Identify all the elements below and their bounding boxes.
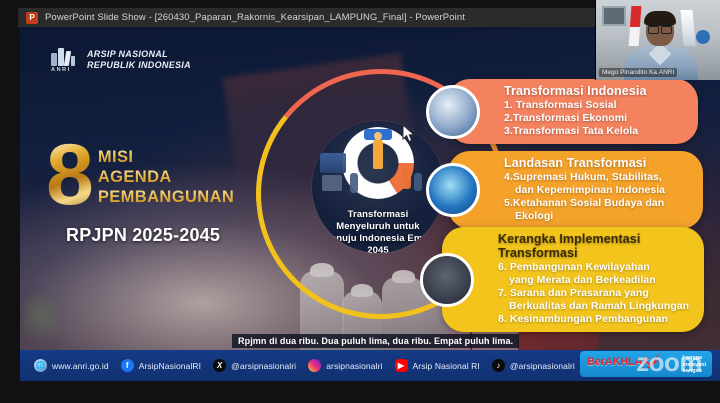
live-caption-text: Rpjmn di dua ribu. Dua puluh lima, dua r… bbox=[232, 334, 519, 348]
anri-line-2: REPUBLIK INDONESIA bbox=[87, 60, 191, 71]
panel-3-item-7-line1: 7. Sarana dan Prasarana yang bbox=[498, 287, 649, 299]
berakhlak-text: BerAKHLAK bbox=[587, 356, 650, 368]
panel-2-item-5-line1: 5.Ketahanan Sosial Budaya dan bbox=[504, 197, 664, 209]
anri-mark-word: ANRI bbox=[51, 67, 71, 73]
footer-item-youtube[interactable]: ▶ Arsip Nasional RI bbox=[395, 359, 480, 372]
panel-2-item-4: 4.Supremasi Hukum, Stabilitas, dan Kepem… bbox=[504, 171, 665, 197]
anri-logo-mark: ANRI bbox=[50, 47, 80, 73]
panel-2-item-4-line1: 4.Supremasi Hukum, Stabilitas, bbox=[504, 171, 662, 183]
footer-item-instagram[interactable]: arsipnasionalri bbox=[308, 359, 382, 372]
facebook-icon: f bbox=[121, 359, 134, 372]
youtube-icon: ▶ bbox=[395, 359, 408, 372]
panel-1-title: Transformasi Indonesia bbox=[504, 84, 647, 98]
powerpoint-icon: P bbox=[26, 12, 38, 24]
footer-label-instagram: arsipnasionalri bbox=[326, 361, 382, 371]
panel-3-item-7-line2: Berkualitas dan Ramah Lingkungan bbox=[498, 300, 694, 313]
footer-item-tiktok[interactable]: ♪ @arsipnasionalri bbox=[492, 359, 575, 372]
hub-person-3-icon bbox=[402, 167, 411, 189]
footer-item-x[interactable]: X @arsipnasionalri bbox=[213, 359, 296, 372]
video-window-object bbox=[602, 6, 626, 26]
participant-name-label: Mego Pinandito Ka.ANRI bbox=[599, 68, 677, 77]
participant-video-tile[interactable]: Mego Pinandito Ka.ANRI bbox=[595, 0, 720, 80]
panel-landasan-transformasi[interactable]: Landasan Transformasi 4.Supremasi Hukum,… bbox=[448, 151, 703, 229]
headline-word-2: AGENDA bbox=[98, 167, 234, 187]
headline-subtitle: RPJPN 2025-2045 bbox=[66, 225, 220, 246]
panel-3-item-6-line1: 6. Pembangunan Kewilayahan bbox=[498, 261, 650, 273]
background-tree-image bbox=[24, 293, 58, 351]
footer-label-x: @arsipnasionalri bbox=[231, 361, 296, 371]
slide-canvas[interactable]: ANRI ARSIP NASIONAL REPUBLIK INDONESIA 8… bbox=[20, 27, 720, 381]
panel-2-item-5: 5.Ketahanan Sosial Budaya dan Ekologi bbox=[504, 197, 665, 223]
headline-words: MISI AGENDA PEMBANGUNAN bbox=[98, 137, 234, 207]
footer-label-youtube: Arsip Nasional RI bbox=[413, 361, 480, 371]
panel-2-thumbnail-image bbox=[426, 163, 480, 217]
panel-3-body: Kerangka Implementasi Transformasi 6. Pe… bbox=[492, 227, 704, 332]
berakhlak-tagline: bangga melayani bangsa bbox=[682, 355, 706, 375]
panel-3-item-7: 7. Sarana dan Prasarana yang Berkualitas… bbox=[498, 287, 694, 313]
institution-logo-icon bbox=[696, 30, 710, 44]
footer-label-facebook: ArsipNasionalRI bbox=[139, 361, 201, 371]
anri-logo: ANRI ARSIP NASIONAL REPUBLIK INDONESIA bbox=[50, 47, 191, 73]
panel-3-title: Kerangka Implementasi Transformasi bbox=[498, 232, 694, 260]
headline-block: 8 MISI AGENDA PEMBANGUNAN bbox=[46, 137, 234, 213]
hub-person-4-icon bbox=[414, 173, 422, 191]
hub-person-2-icon bbox=[350, 173, 358, 193]
tiktok-icon: ♪ bbox=[492, 359, 505, 372]
glasses-icon bbox=[648, 24, 672, 30]
hub-caption: Transformasi Menyeluruh untuk Menuju Ind… bbox=[320, 209, 436, 253]
footer-label-website: www.anri.go.id bbox=[52, 361, 109, 371]
panel-2-title: Landasan Transformasi bbox=[504, 156, 665, 170]
panel-3-item-6-line2: yang Merata dan Berkeadilan bbox=[498, 274, 694, 287]
headline-word-1: MISI bbox=[98, 147, 234, 167]
panel-2-item-4-line2: dan Kepemimpinan Indonesia bbox=[504, 184, 665, 197]
headline-word-3: PEMBANGUNAN bbox=[98, 187, 234, 207]
x-twitter-icon: X bbox=[213, 359, 226, 372]
anri-logo-text: ARSIP NASIONAL REPUBLIK INDONESIA bbox=[87, 49, 191, 71]
panel-1-thumbnail-image bbox=[426, 85, 480, 139]
panel-kerangka-implementasi[interactable]: Kerangka Implementasi Transformasi 6. Pe… bbox=[442, 227, 704, 332]
panel-3-item-6: 6. Pembangunan Kewilayahan yang Merata d… bbox=[498, 261, 694, 287]
ring-hub: Transformasi Menyeluruh untuk Menuju Ind… bbox=[312, 121, 444, 253]
panel-transformasi-indonesia[interactable]: Transformasi Indonesia 1. Transformasi S… bbox=[448, 79, 698, 144]
berakhlak-logo: BerAKHLAK bangga melayani bangsa bbox=[580, 351, 712, 377]
footer-item-facebook[interactable]: f ArsipNasionalRI bbox=[121, 359, 201, 372]
instagram-icon bbox=[308, 359, 321, 372]
footer-label-tiktok: @arsipnasionalri bbox=[510, 361, 575, 371]
anri-line-1: ARSIP NASIONAL bbox=[87, 49, 191, 60]
hub-chart-secondary-icon bbox=[322, 175, 342, 191]
hub-person-icon bbox=[373, 139, 383, 169]
panel-1-item-1: 1. Transformasi Sosial bbox=[504, 99, 647, 112]
screen-root: P PowerPoint Slide Show - [260430_Papara… bbox=[0, 0, 720, 403]
panel-1-body: Transformasi Indonesia 1. Transformasi S… bbox=[498, 79, 657, 144]
panel-3-item-8: 8. Kesinambungan Pembangunan bbox=[498, 313, 694, 326]
footer-item-website[interactable]: 🌐 www.anri.go.id bbox=[34, 359, 109, 372]
globe-icon: 🌐 bbox=[34, 359, 47, 372]
video-person-hair bbox=[644, 11, 676, 25]
panel-2-body: Landasan Transformasi 4.Supremasi Hukum,… bbox=[498, 151, 675, 229]
panel-1-item-2: 2.Transformasi Ekonomi bbox=[504, 112, 647, 125]
mission-count-number: 8 bbox=[46, 137, 98, 213]
panel-3-thumbnail-image bbox=[420, 253, 474, 307]
panel-2-item-5-line2: Ekologi bbox=[504, 210, 665, 223]
hub-chart-icon bbox=[320, 153, 346, 173]
berakhlak-tagline-3: bangsa bbox=[682, 368, 706, 375]
panel-1-item-3: 3.Transformasi Tata Kelola bbox=[504, 125, 647, 138]
window-title: PowerPoint Slide Show - [260430_Paparan_… bbox=[45, 12, 465, 23]
